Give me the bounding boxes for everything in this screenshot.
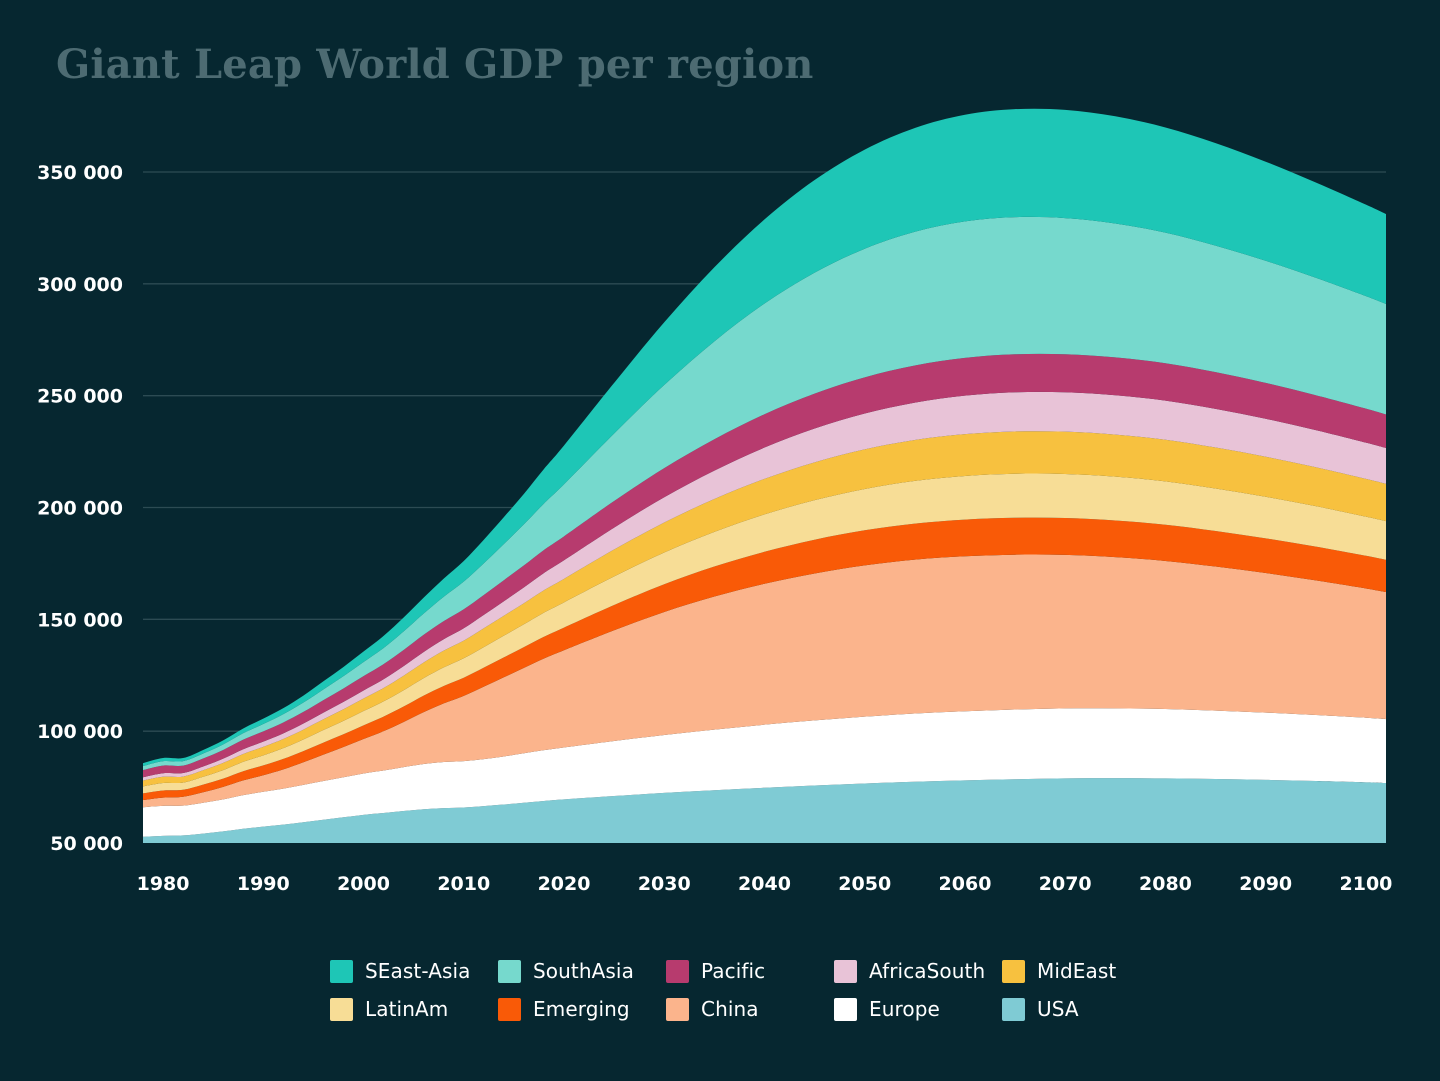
legend-item-label: Pacific (701, 959, 765, 983)
x-axis-tick-label: 1990 (237, 873, 290, 895)
legend-item-emerging[interactable]: Emerging (498, 997, 666, 1021)
legend-item-label: AfricaSouth (869, 959, 985, 983)
area-bands (0, 109, 1440, 1081)
legend-swatch-icon (498, 998, 521, 1021)
y-axis-tick-label: 350 000 (37, 162, 123, 184)
x-axis-tick-label: 2020 (538, 873, 591, 895)
legend-item-usa[interactable]: USA (1002, 997, 1170, 1021)
legend-item-mideast[interactable]: MidEast (1002, 959, 1170, 983)
legend-item-latinam[interactable]: LatinAm (330, 997, 498, 1021)
legend-swatch-icon (498, 960, 521, 983)
legend-item-label: Europe (869, 997, 940, 1021)
legend-swatch-icon (834, 998, 857, 1021)
y-axis-tick-label: 300 000 (37, 274, 123, 296)
chart-legend: SEast-AsiaSouthAsiaPacificAfricaSouthMid… (330, 952, 1170, 1028)
x-axis-tick-label: 2040 (738, 873, 791, 895)
legend-swatch-icon (666, 998, 689, 1021)
plot-area: 50 000100 000150 000200 000250 000300 00… (0, 0, 1440, 1081)
y-axis-tick-label: 150 000 (37, 609, 123, 631)
legend-item-southasia[interactable]: SouthAsia (498, 959, 666, 983)
y-axis-tick-label: 100 000 (37, 721, 123, 743)
x-axis-tick-label: 2030 (638, 873, 691, 895)
legend-item-europe[interactable]: Europe (834, 997, 1002, 1021)
legend-item-label: LatinAm (365, 997, 448, 1021)
legend-swatch-icon (1002, 998, 1025, 1021)
legend-swatch-icon (330, 960, 353, 983)
legend-item-label: MidEast (1037, 959, 1116, 983)
x-axis-tick-label: 2000 (337, 873, 390, 895)
legend-item-seast-asia[interactable]: SEast-Asia (330, 959, 498, 983)
legend-item-label: SouthAsia (533, 959, 634, 983)
legend-swatch-icon (666, 960, 689, 983)
legend-swatch-icon (834, 960, 857, 983)
x-axis-tick-label: 2100 (1340, 873, 1393, 895)
legend-swatch-icon (330, 998, 353, 1021)
x-axis-tick-label: 2070 (1039, 873, 1092, 895)
legend-item-label: SEast-Asia (365, 959, 471, 983)
legend-item-label: USA (1037, 997, 1079, 1021)
x-axis-tick-label: 2060 (939, 873, 992, 895)
x-axis-tick-label: 2010 (437, 873, 490, 895)
legend-item-africasouth[interactable]: AfricaSouth (834, 959, 1002, 983)
x-axis-tick-label: 1980 (137, 873, 190, 895)
x-axis-tick-label: 2050 (838, 873, 891, 895)
x-axis-tick-label: 2090 (1239, 873, 1292, 895)
stacked-area-chart: 50 000100 000150 000200 000250 000300 00… (0, 0, 1440, 1081)
x-axis-tick-label: 2080 (1139, 873, 1192, 895)
legend-swatch-icon (1002, 960, 1025, 983)
legend-item-pacific[interactable]: Pacific (666, 959, 834, 983)
y-axis-tick-label: 250 000 (37, 386, 123, 408)
y-axis-tick-label: 200 000 (37, 498, 123, 520)
chart-page: Giant Leap World GDP per region 50 00010… (0, 0, 1440, 1081)
legend-item-label: China (701, 997, 759, 1021)
legend-item-china[interactable]: China (666, 997, 834, 1021)
y-axis-labels: 50 000100 000150 000200 000250 000300 00… (37, 162, 123, 855)
legend-item-label: Emerging (533, 997, 630, 1021)
y-axis-tick-label: 50 000 (50, 833, 123, 855)
